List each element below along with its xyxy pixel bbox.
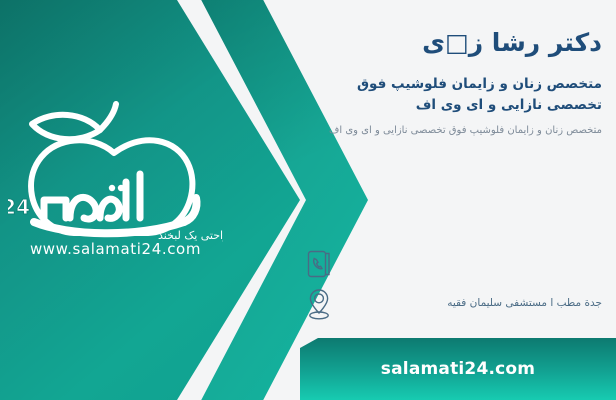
logo-number-24: 24 <box>8 195 30 219</box>
specialty-subtext: متخصص زنان و زایمان فلوشیپ فوق تخصصی ناز… <box>302 122 602 140</box>
map-pin-icon <box>302 286 336 322</box>
profile-content: دکتر رشا ز□ی متخصص زنان و زایمان فلوشیپ … <box>302 26 602 140</box>
contact-label-address: جدة مطب ا مستشفى سلیمان فقیه <box>346 296 602 312</box>
contact-row-phone[interactable] <box>302 246 602 282</box>
footer-banner[interactable]: salamati24.com <box>300 338 616 400</box>
contact-block: جدة مطب ا مستشفى سلیمان فقیه <box>302 246 602 326</box>
doctor-name: دکتر رشا ز□ی <box>302 26 602 60</box>
svg-text:24: 24 <box>8 195 30 219</box>
contact-row-address[interactable]: جدة مطب ا مستشفى سلیمان فقیه <box>302 286 602 322</box>
footer-website-url: salamati24.com <box>381 359 535 379</box>
brand-logo: 24 به راحتی یک لبخند www.salamati24.com <box>8 96 223 281</box>
apple-leaf-logo: 24 به راحتی یک لبخند <box>8 96 223 246</box>
contact-label-phone <box>346 258 602 270</box>
specialty-headline: متخصص زنان و زایمان فلوشیپ فوق تخصصی ناز… <box>302 74 602 116</box>
doctor-profile-card: 24 به راحتی یک لبخند www.salamati24.com … <box>0 0 616 400</box>
phone-book-icon <box>302 246 336 282</box>
logo-website-url: www.salamati24.com <box>8 240 223 258</box>
